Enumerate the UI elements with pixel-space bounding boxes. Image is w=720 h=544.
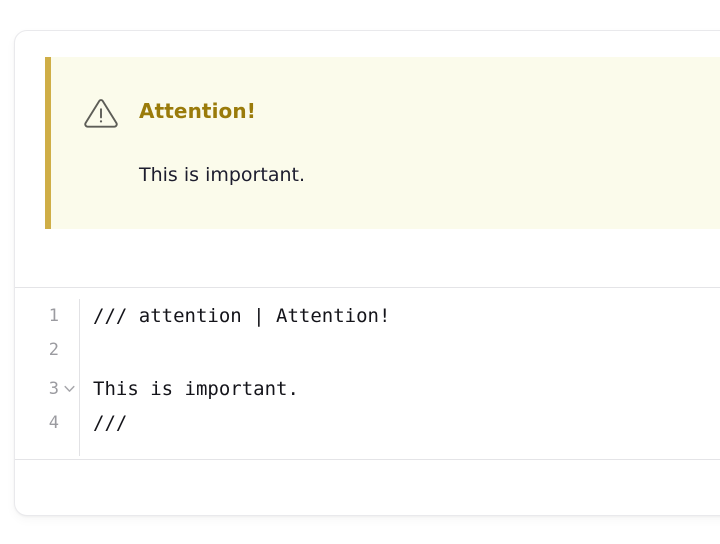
gutter-row: 1 (15, 299, 79, 333)
rendered-preview-pane: Attention! This is important. (15, 31, 720, 286)
attention-admonition: Attention! This is important. (45, 57, 720, 229)
line-number: 2 (15, 333, 59, 367)
gutter-row: 2 (15, 333, 79, 367)
admonition-title: Attention! (139, 99, 256, 123)
warning-triangle-icon (83, 98, 119, 130)
gutter-row: 4 (15, 406, 79, 440)
code-line[interactable] (93, 333, 720, 367)
gutter-divider (79, 299, 80, 456)
code-line[interactable]: /// (93, 406, 720, 440)
editor-bottom-divider (15, 459, 720, 460)
admonition-accent-bar (45, 57, 51, 229)
markdown-preview-card: Attention! This is important. 1 2 3 (14, 30, 720, 516)
markdown-source-editor[interactable]: 1 2 3 4 /// attention | Attention! Thi (15, 288, 720, 459)
admonition-body-text: This is important. (139, 163, 720, 189)
line-number: 4 (15, 406, 59, 440)
chevron-down-icon[interactable] (64, 372, 76, 406)
code-line[interactable]: /// attention | Attention! (93, 299, 720, 333)
admonition-title-row: Attention! (83, 97, 720, 131)
line-number: 3 (15, 372, 59, 406)
editor-code-area[interactable]: /// attention | Attention! This is impor… (93, 299, 720, 459)
line-number: 1 (15, 299, 59, 333)
gutter-row: 3 (15, 372, 79, 406)
code-line[interactable]: This is important. (93, 372, 720, 406)
editor-line-number-gutter: 1 2 3 4 (15, 299, 79, 459)
